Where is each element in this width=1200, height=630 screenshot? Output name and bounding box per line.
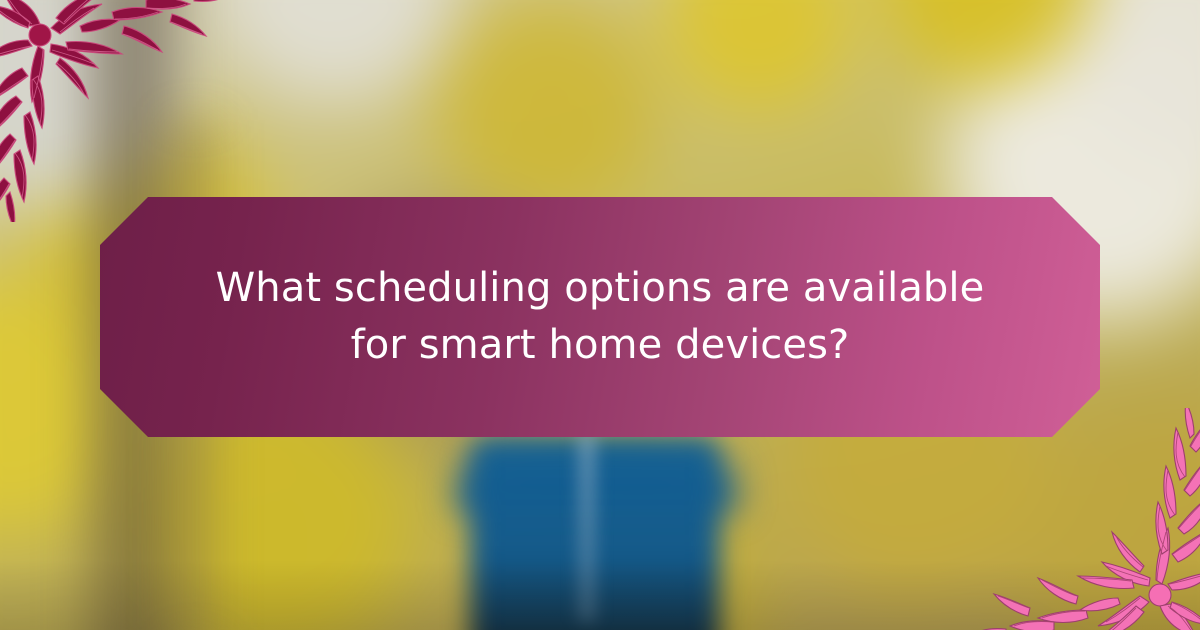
- question-banner: What scheduling options are available fo…: [100, 197, 1100, 437]
- background-bottom-vignette: [0, 560, 1200, 630]
- share-card: What scheduling options are available fo…: [0, 0, 1200, 630]
- question-title: What scheduling options are available fo…: [100, 260, 1100, 374]
